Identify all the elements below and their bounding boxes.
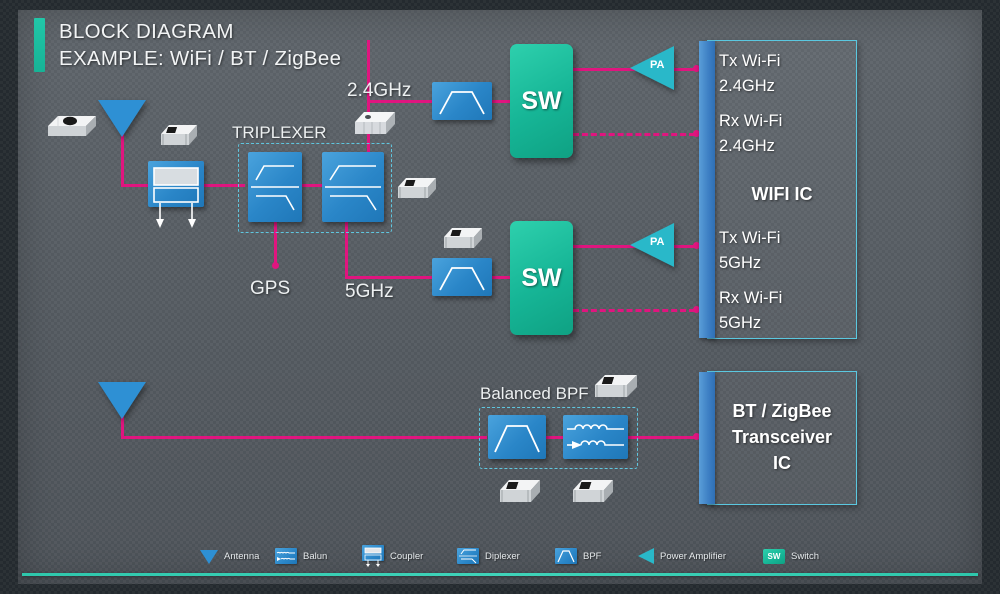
switch-24ghz[interactable]: SW <box>510 44 573 158</box>
smd-component-8 <box>570 474 616 508</box>
dot-gps-terminal <box>272 262 279 269</box>
power-amplifier-icon <box>638 548 654 564</box>
legend-item-antenna: Antenna <box>200 548 275 564</box>
line-antenna1-down <box>121 130 124 185</box>
bottom-divider <box>22 573 978 576</box>
bpf-icon-5ghz <box>432 258 492 296</box>
legend-label-diplexer: Diplexer <box>485 551 520 562</box>
pa-24ghz-label: PA <box>650 59 664 71</box>
switch-5ghz[interactable]: SW <box>510 221 573 335</box>
freq-5ghz-label: 5GHz <box>345 281 394 303</box>
legend-label-bpf: BPF <box>583 551 601 562</box>
freq-24ghz-label: 2.4GHz <box>347 80 411 102</box>
line-sw5-rx <box>573 309 695 312</box>
legend-item-switch: SW Switch <box>763 549 819 564</box>
antenna-icon-wifi <box>98 100 146 137</box>
triplexer-label: TRIPLEXER <box>232 123 326 143</box>
line-5ghz-to-bpf <box>345 276 432 279</box>
coupler-icon <box>362 545 384 567</box>
legend-item-power-amplifier: Power Amplifier <box>638 548 763 564</box>
antenna-icon <box>200 550 218 564</box>
legend-label-antenna: Antenna <box>224 551 259 562</box>
balun-icon-bt <box>563 415 628 459</box>
smd-component-3 <box>352 104 398 140</box>
line-bpf5-to-sw <box>492 276 510 279</box>
bpf-icon-bt <box>488 415 546 459</box>
smd-component-5 <box>441 222 485 254</box>
legend-label-balun: Balun <box>303 551 327 562</box>
wifi-ic-block[interactable]: Tx Wi-Fi 2.4GHz Rx Wi-Fi 2.4GHz WIFI IC … <box>707 40 857 339</box>
bpf-icon <box>555 547 577 565</box>
bt-zigbee-ic-name: BT / ZigBee Transceiver IC <box>708 398 856 476</box>
smd-component-6 <box>592 368 640 404</box>
wifi-ic-port-rx-24: Rx Wi-Fi 2.4GHz <box>719 109 782 159</box>
line-bpf24-to-sw <box>492 100 510 103</box>
wifi-ic-name: WIFI IC <box>708 181 856 207</box>
power-amplifier-24ghz: PA <box>630 46 674 90</box>
wifi-ic-port-rx-5: Rx Wi-Fi 5GHz <box>719 286 782 336</box>
legend: Antenna Balun <box>200 545 819 567</box>
page-title: BLOCK DIAGRAM <box>59 18 341 45</box>
smd-component-7 <box>497 474 543 508</box>
legend-label-power-amplifier: Power Amplifier <box>660 551 726 562</box>
smd-component-4 <box>395 172 439 204</box>
coupler-icon <box>148 161 204 207</box>
balun-icon <box>275 547 297 565</box>
wifi-ic-port-tx-24: Tx Wi-Fi 2.4GHz <box>719 49 780 99</box>
legend-item-coupler: Coupler <box>362 545 457 567</box>
title-accent-bar <box>34 18 45 72</box>
wifi-ic-port-tx-5: Tx Wi-Fi 5GHz <box>719 226 780 276</box>
bpf-icon-24ghz <box>432 82 492 120</box>
pa-5ghz-label: PA <box>650 236 664 248</box>
line-antenna2-to-bpf <box>121 436 487 439</box>
legend-label-coupler: Coupler <box>390 551 423 562</box>
page-subtitle: EXAMPLE: WiFi / BT / ZigBee <box>59 45 341 72</box>
coupler-arrows <box>148 203 204 229</box>
title-block: BLOCK DIAGRAM EXAMPLE: WiFi / BT / ZigBe… <box>34 18 341 72</box>
legend-item-diplexer: Diplexer <box>457 547 555 565</box>
switch-icon-glyph: SW <box>768 552 781 561</box>
bt-zigbee-ic-block[interactable]: BT / ZigBee Transceiver IC <box>707 371 857 505</box>
line-sw24-rx <box>573 133 695 136</box>
legend-label-switch: Switch <box>791 551 819 562</box>
smd-component-1 <box>44 108 100 142</box>
antenna-icon-bt <box>98 382 146 419</box>
switch-24ghz-label: SW <box>521 87 561 116</box>
diplexer-icon-1 <box>248 152 302 222</box>
legend-item-bpf: BPF <box>555 547 638 565</box>
switch-5ghz-label: SW <box>521 264 561 293</box>
legend-item-balun: Balun <box>275 547 362 565</box>
smd-component-2 <box>158 118 200 152</box>
gps-label: GPS <box>250 278 290 300</box>
diplexer-icon <box>457 547 479 565</box>
switch-icon: SW <box>763 549 785 564</box>
diplexer-icon-2 <box>322 152 384 222</box>
line-balun-to-bt-ic <box>628 436 700 439</box>
block-diagram-canvas: BLOCK DIAGRAM EXAMPLE: WiFi / BT / ZigBe… <box>0 0 1000 594</box>
balanced-bpf-label: Balanced BPF <box>480 384 589 404</box>
power-amplifier-5ghz: PA <box>630 223 674 267</box>
